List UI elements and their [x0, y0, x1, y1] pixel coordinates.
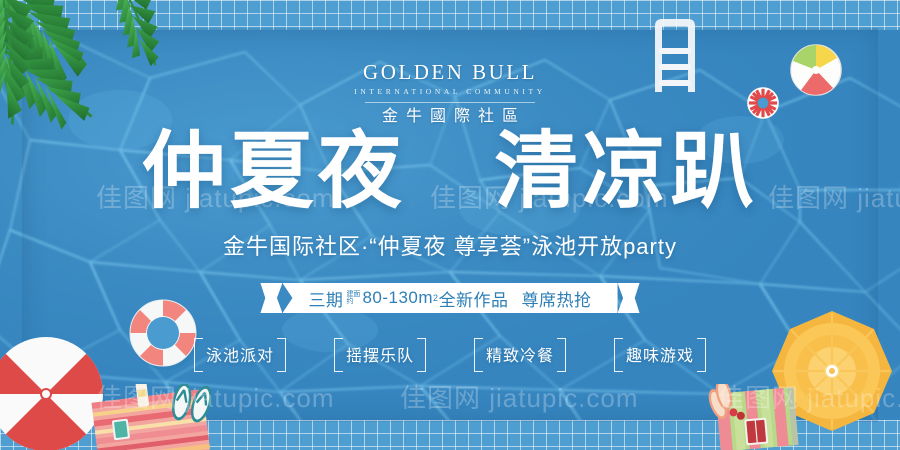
brand-tagline: INTERNATIONAL COMMUNITY — [0, 88, 900, 96]
ribbon-area-note-line2: 约 — [346, 298, 360, 305]
feature-tag: 泳池派对 — [194, 338, 286, 370]
ribbon-area-range: 80-130m — [362, 288, 433, 308]
beach-towel-left-decoration — [90, 384, 240, 450]
ribbon-suffix: 全新作品 — [439, 286, 509, 311]
page-title: 仲夏夜 清凉趴 — [0, 128, 900, 215]
feature-tag: 趣味游戏 — [614, 338, 706, 370]
ribbon-body: 三期 建面 约 80-130m 2 全新作品 尊席热抢 — [282, 283, 617, 313]
feature-tag-list: 泳池派对 摇摆乐队 精致冷餐 趣味游戏 — [0, 338, 900, 370]
brand-name-en: GOLDEN BULL — [0, 62, 900, 83]
ribbon-tail-right — [618, 283, 640, 313]
ribbon-banner: 三期 建面 约 80-130m 2 全新作品 尊席热抢 — [0, 283, 900, 313]
brand-name-cn: 金牛國際社區 — [0, 109, 900, 125]
feature-tag: 精致冷餐 — [474, 338, 566, 370]
poster-canvas: 佳图网 jiatupic.com 佳图网 jiatupic.com 佳图网 ji… — [0, 0, 900, 450]
ribbon-tail-left — [260, 283, 282, 313]
subtitle: 金牛国际社区·“仲夏夜 尊享荟”泳池开放party — [0, 236, 900, 258]
ribbon-area-note: 建面 约 — [346, 291, 360, 306]
headline-part-2: 清凉趴 — [494, 124, 758, 218]
ribbon-area-note-line1: 建面 — [346, 291, 360, 298]
ribbon-suffix-2: 尊席热抢 — [522, 286, 592, 311]
headline-part-1: 仲夏夜 — [142, 124, 406, 218]
beach-towel-right-decoration — [700, 384, 822, 450]
brand-divider — [365, 102, 535, 103]
brand-logo: GOLDEN BULL INTERNATIONAL COMMUNITY 金牛國際… — [0, 62, 900, 125]
ribbon-phase: 三期 — [308, 286, 343, 311]
feature-tag: 摇摆乐队 — [334, 338, 426, 370]
